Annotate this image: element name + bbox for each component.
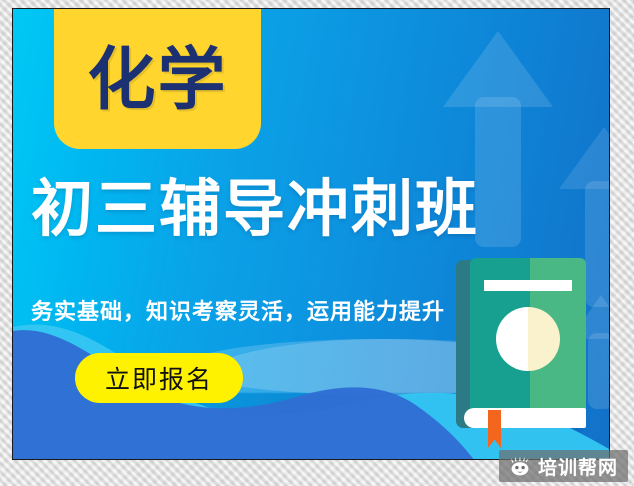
book-pages — [464, 408, 586, 428]
arrow-shaft — [475, 97, 521, 247]
page-title: 初三辅导冲刺班 — [31, 179, 479, 241]
book-emblem-right-half — [528, 307, 560, 371]
subtitle-text: 务实基础，知识考察灵活，运用能力提升 — [31, 294, 445, 326]
book-emblem-left-half — [496, 307, 528, 371]
owl-face-icon — [509, 456, 531, 476]
promo-banner[interactable]: 化学 初三辅导冲刺班 务实基础，知识考察灵活，运用能力提升 立即报名 — [12, 8, 610, 460]
book-title-bar — [484, 280, 572, 291]
subject-badge: 化学 — [54, 8, 261, 149]
arrow-head — [443, 31, 553, 107]
site-watermark: 培训帮网 — [499, 450, 628, 482]
textbook-illustration — [456, 258, 586, 433]
subject-badge-label: 化学 — [87, 46, 227, 114]
arrow-head — [559, 127, 610, 189]
page-backdrop: 化学 初三辅导冲刺班 务实基础，知识考察灵活，运用能力提升 立即报名 — [0, 0, 634, 486]
enroll-now-button[interactable]: 立即报名 — [75, 353, 243, 403]
book-emblem-circle — [496, 307, 560, 371]
watermark-text: 培训帮网 — [538, 453, 618, 480]
